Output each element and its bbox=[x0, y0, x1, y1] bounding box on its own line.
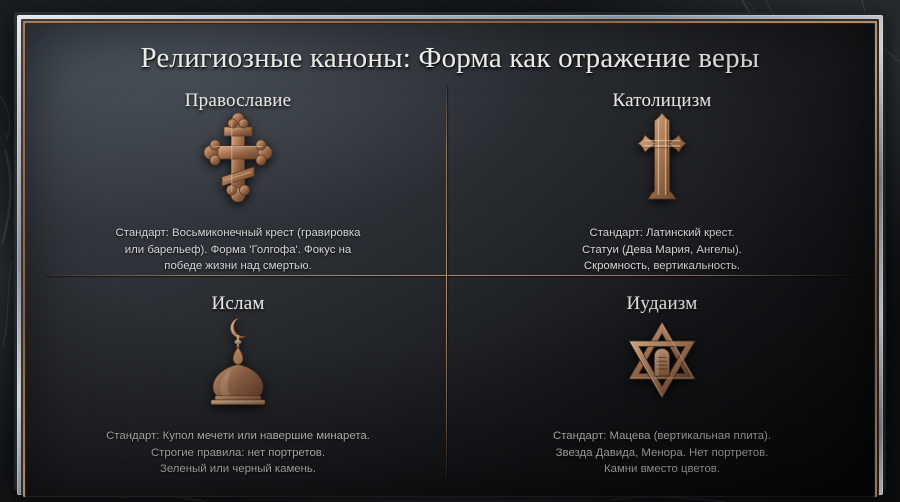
page-title: Религиозные каноны: Форма как отражение … bbox=[26, 42, 874, 75]
quadrant-body-islam: Стандарт: Купол мечети или навершие мина… bbox=[106, 428, 370, 484]
latin-cross-icon bbox=[631, 118, 693, 196]
frame-dark-bevel: Религиозные каноны: Форма как отражение … bbox=[21, 19, 879, 495]
poster-stage: Религиозные каноны: Форма как отражение … bbox=[0, 0, 900, 502]
orthodox-cross-icon bbox=[202, 118, 274, 196]
body-line: Строгие правила: нет портретов. bbox=[106, 445, 370, 462]
quadrant-body-catholicism: Стандарт: Латинский крест. Статуи (Дева … bbox=[582, 225, 742, 281]
quadrant-judaism[interactable]: Иудаизм bbox=[450, 287, 874, 490]
quadrant-body-judaism: Стандарт: Мацева (вертикальная плита). З… bbox=[553, 428, 771, 484]
slate-board: Религиозные каноны: Форма как отражение … bbox=[26, 24, 874, 496]
quadrant-orthodoxy[interactable]: Православие bbox=[26, 84, 450, 287]
quadrant-body-orthodoxy: Стандарт: Восьмиконечный крест (гравиров… bbox=[116, 225, 361, 281]
body-line: Стандарт: Латинский крест. bbox=[582, 225, 742, 242]
body-line: Скромность, вертикальность. bbox=[582, 258, 742, 275]
religion-grid: Православие bbox=[26, 84, 874, 490]
quadrant-islam[interactable]: Ислам bbox=[26, 287, 450, 490]
frame-copper-line: Религиозные каноны: Форма как отражение … bbox=[23, 21, 877, 497]
body-line: Стандарт: Мацева (вертикальная плита). bbox=[553, 428, 771, 445]
frame-silver-bevel: Религиозные каноны: Форма как отражение … bbox=[17, 15, 883, 495]
quadrant-heading-catholicism: Католицизм bbox=[613, 90, 712, 112]
quadrant-heading-islam: Ислам bbox=[211, 293, 264, 315]
quadrant-catholicism[interactable]: Католицизм bbox=[450, 84, 874, 287]
mosque-dome-crescent-icon bbox=[195, 321, 281, 399]
body-line: Стандарт: Купол мечети или навершие мина… bbox=[106, 428, 370, 445]
body-line: Стандарт: Восьмиконечный крест (гравиров… bbox=[116, 225, 361, 242]
frame-inner-lip: Религиозные каноны: Форма как отражение … bbox=[25, 23, 875, 497]
star-of-david-matzevah-icon bbox=[616, 321, 708, 399]
quadrant-heading-judaism: Иудаизм bbox=[627, 293, 698, 315]
body-line: Камни вместо цветов. bbox=[553, 461, 771, 478]
plaque-frame: Религиозные каноны: Форма как отражение … bbox=[14, 12, 886, 490]
body-line: Звезда Давида, Менора. Нет портретов. bbox=[553, 445, 771, 462]
body-line: Статуи (Дева Мария, Ангелы). bbox=[582, 242, 742, 259]
body-line: или барельеф). Форма 'Голгофа'. Фокус на bbox=[116, 242, 361, 259]
body-line: победе жизни над смертью. bbox=[116, 258, 361, 275]
body-line: Зеленый или черный камень. bbox=[106, 461, 370, 478]
quadrant-heading-orthodoxy: Православие bbox=[185, 90, 292, 112]
